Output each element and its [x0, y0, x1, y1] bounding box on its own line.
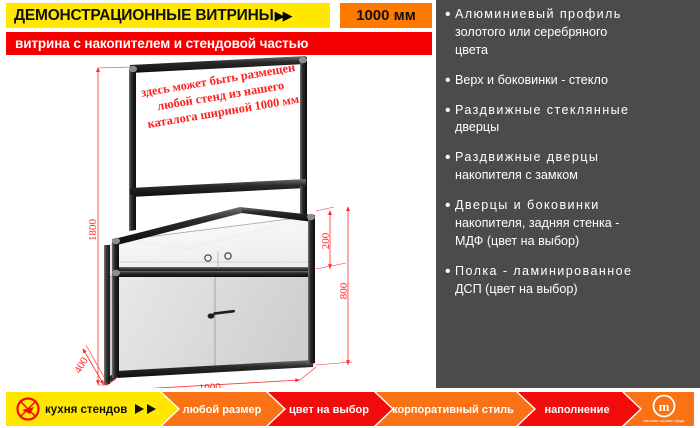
ribbon-label-color-choice: цвет на выбор: [289, 404, 369, 416]
feature-item: • Дверцы и боковинки накопителя, задняя …: [436, 197, 700, 251]
size-badge-label: 1000 мм: [356, 7, 416, 24]
product-drawing: 1800 400 1000 200 800 здесь может быть р…: [0, 55, 434, 388]
ribbon-segment-any-size[interactable]: любой размер: [162, 392, 284, 426]
dim-lower: 800: [338, 282, 350, 299]
feature-item: • Верх и боковинки - стекло: [436, 72, 700, 90]
dim-height-total: 1800: [87, 219, 99, 242]
brand-logo-mark: m: [659, 399, 670, 414]
feature-item: • Полка - ламинированное ДСП (цвет на вы…: [436, 263, 700, 299]
cabinet-glass-section: [107, 207, 314, 277]
feature-item: • Раздвижные дверцы накопителя с замком: [436, 149, 700, 185]
bottom-ribbon: кухня стендов любой размер цвет на выбор…: [0, 390, 700, 428]
subtitle-label: витрина с накопителем и стендовой частью: [6, 36, 308, 51]
ribbon-segment-color-choice[interactable]: цвет на выбор: [268, 392, 392, 426]
ribbon-label-any-size: любой размер: [183, 404, 262, 416]
page-title: ДЕМОНСТРАЦИОННЫЕ ВИТРИНЫ: [6, 7, 274, 25]
ribbon-label-corporate-style: корпоративный стиль: [392, 404, 514, 416]
feature-text: Верх и боковинки - стекло: [455, 72, 608, 90]
feature-item: • Алюминиевый профиль золотого или сереб…: [436, 6, 700, 60]
feature-text: Дверцы и боковинки накопителя, задняя ст…: [455, 197, 619, 251]
bullet-icon: •: [445, 149, 455, 166]
size-badge: 1000 мм: [340, 3, 432, 28]
title-bar: ДЕМОНСТРАЦИОННЫЕ ВИТРИНЫ ▶▶: [6, 3, 330, 28]
feature-text: Раздвижные стеклянные дверцы: [455, 102, 629, 138]
feature-text: Раздвижные дверцы накопителя с замком: [455, 149, 599, 185]
ribbon-label-filling: наполнение: [544, 404, 609, 416]
left-column: ДЕМОНСТРАЦИОННЫЕ ВИТРИНЫ ▶▶ 1000 мм витр…: [0, 0, 434, 388]
ribbon-segment-filling[interactable]: наполнение: [518, 392, 640, 426]
bullet-icon: •: [445, 72, 455, 89]
ribbon-segment-kitchen[interactable]: кухня стендов: [6, 392, 178, 426]
feature-text: Алюминиевый профиль золотого или серебря…: [455, 6, 622, 60]
poster-root: ДЕМОНСТРАЦИОННЫЕ ВИТРИНЫ ▶▶ 1000 мм витр…: [0, 0, 700, 428]
bullet-icon: •: [445, 197, 455, 214]
double-arrow-icon: ▶▶: [275, 9, 291, 22]
ribbon-segment-corporate-style[interactable]: корпоративный стиль: [376, 392, 534, 426]
subtitle-bar: витрина с накопителем и стендовой частью: [6, 32, 432, 55]
ribbon-label-kitchen: кухня стендов: [45, 404, 127, 416]
feature-text: Полка - ламинированное ДСП (цвет на выбо…: [455, 263, 632, 299]
dim-upper: 200: [320, 232, 332, 249]
brand-logo-subtitle: магазин охраны труда: [644, 419, 685, 423]
bullet-icon: •: [445, 263, 455, 280]
stand-board: [129, 56, 307, 197]
bullet-icon: •: [445, 102, 455, 119]
feature-item: • Раздвижные стеклянные дверцы: [436, 102, 700, 138]
features-panel: • Алюминиевый профиль золотого или сереб…: [436, 0, 700, 388]
bullet-icon: •: [445, 6, 455, 23]
dim-width: 1000: [198, 381, 221, 388]
